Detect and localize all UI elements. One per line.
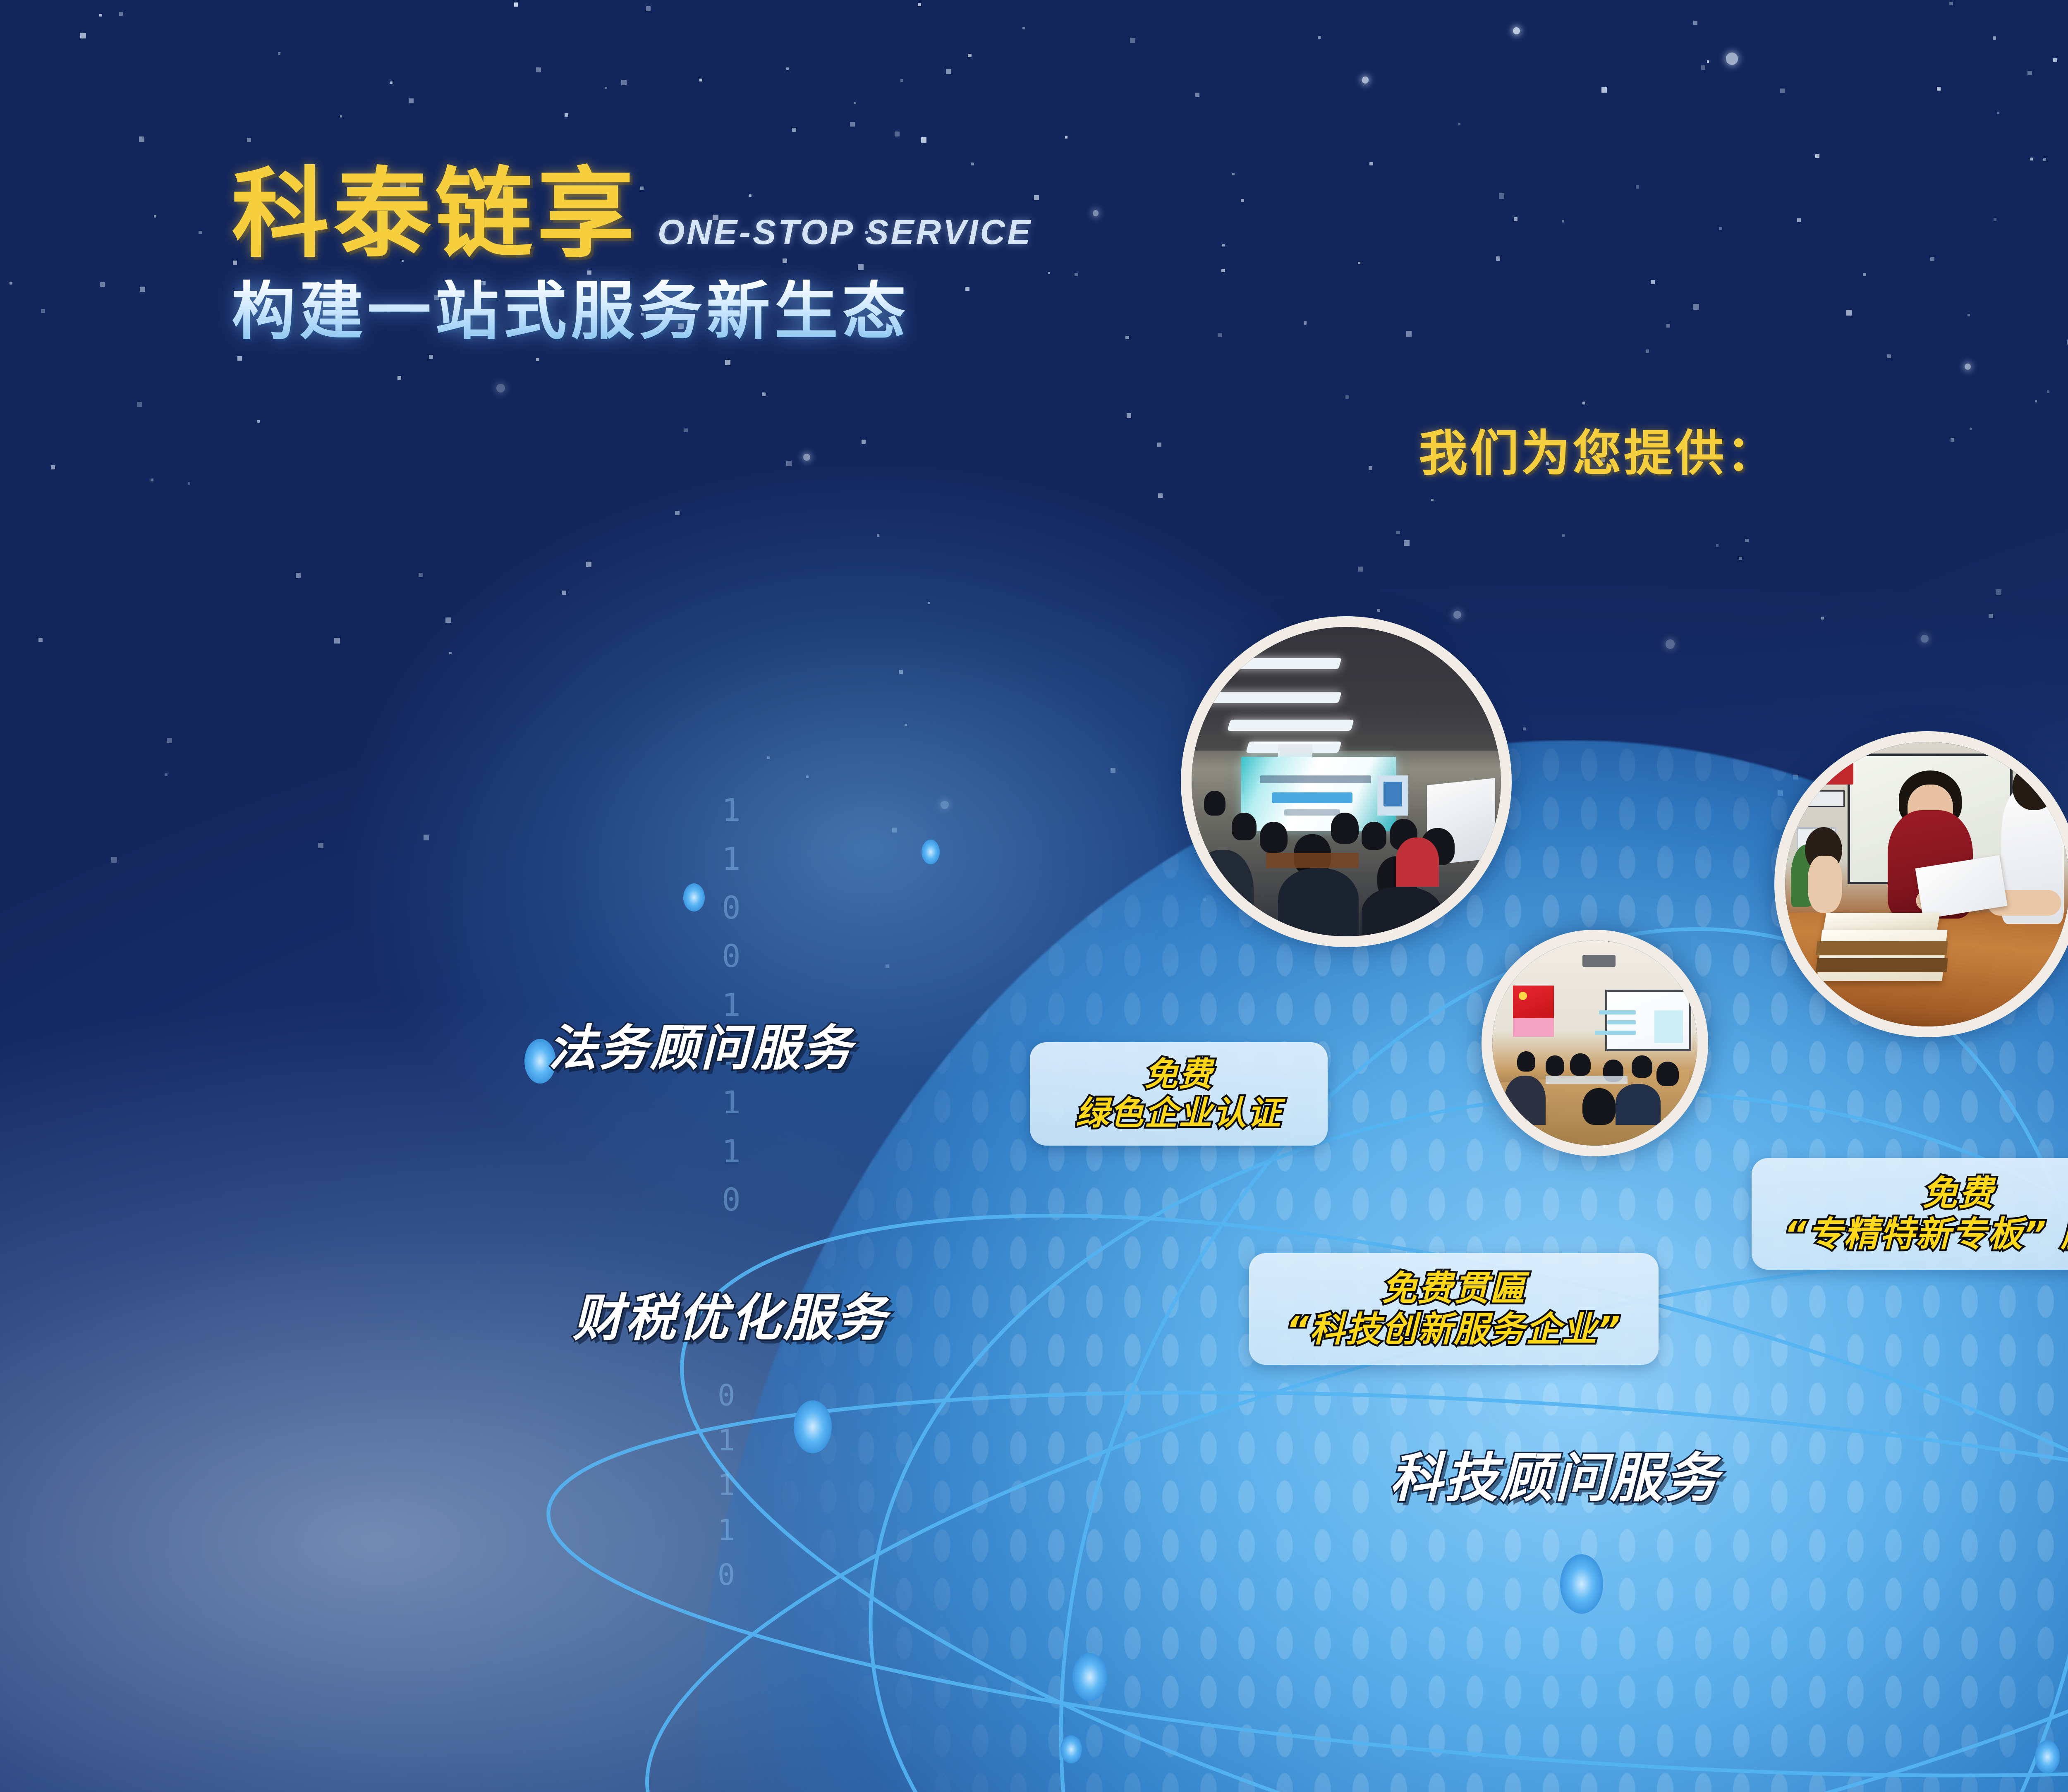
star (1797, 218, 1801, 222)
star (1362, 77, 1369, 83)
star (1499, 193, 1505, 199)
binary-column-left: 110011110 (722, 786, 742, 1224)
star (188, 482, 190, 485)
star (1396, 531, 1400, 534)
star (51, 465, 55, 469)
star (449, 652, 452, 654)
headline-subtitle: 构建一站式服务新生态 (232, 280, 1032, 343)
star (1666, 324, 1670, 328)
star (928, 602, 930, 604)
star (1949, 2, 1953, 5)
star (1345, 395, 1349, 399)
star (1651, 280, 1655, 284)
star (1369, 162, 1373, 165)
headline-block: 科泰链享 ONE-STOP SERVICE 构建一站式服务新生态 (232, 165, 1032, 343)
binary-digit: 0 (718, 1553, 736, 1598)
star (1989, 614, 1993, 618)
star (1358, 567, 1363, 572)
star (1994, 218, 1996, 221)
star (1065, 136, 1068, 138)
star (10, 282, 12, 284)
star (1513, 27, 1520, 34)
star (340, 115, 342, 117)
star (1022, 27, 1025, 29)
star (803, 454, 810, 460)
star (167, 738, 172, 743)
star (1997, 112, 1999, 114)
star (41, 309, 45, 313)
star (2035, 400, 2037, 402)
star (699, 79, 702, 81)
binary-digit: 1 (722, 835, 742, 883)
star (2027, 71, 2032, 75)
star (247, 138, 251, 142)
star (1358, 262, 1360, 264)
star (1707, 60, 1709, 63)
star (905, 724, 907, 726)
star (1846, 310, 1852, 316)
star (921, 137, 926, 143)
star (1458, 123, 1461, 125)
star (605, 87, 607, 89)
star (946, 69, 951, 74)
star (199, 231, 201, 234)
star (862, 440, 866, 444)
star (877, 534, 879, 537)
brand-title: 科泰链享 (232, 165, 639, 263)
star (1693, 304, 1699, 310)
badge-line-2: “科技创新服务企业” (1286, 1309, 1621, 1350)
star (1701, 65, 1706, 70)
star (278, 52, 281, 55)
star (1726, 53, 1738, 65)
star (100, 282, 105, 287)
star (445, 617, 451, 623)
photo-meeting-room (1482, 930, 1708, 1156)
star (1157, 443, 1161, 447)
star (1232, 173, 1235, 175)
star (1195, 93, 1199, 97)
star (1582, 402, 1585, 404)
star (792, 128, 796, 132)
star (762, 392, 766, 396)
star (257, 420, 260, 423)
service-label-tech: 科技顾问服务 (1390, 1435, 1720, 1512)
star (786, 461, 792, 466)
binary-digit: 0 (718, 1373, 736, 1418)
star (409, 98, 414, 103)
star (154, 215, 156, 218)
star (1158, 493, 1163, 498)
badge-line-2: “专精特新专板” 服务 (1784, 1214, 2068, 1255)
star (1863, 273, 1866, 276)
star (1646, 349, 1649, 353)
star (1369, 466, 1372, 470)
star (419, 573, 423, 577)
badge-line-1: 免费 (1922, 1173, 1994, 1214)
star (137, 402, 142, 407)
star (918, 3, 922, 7)
binary-digit: 1 (718, 1418, 736, 1463)
star (1719, 227, 1722, 230)
star (1562, 534, 1564, 536)
brand-subtitle-en: ONE-STOP SERVICE (658, 212, 1032, 263)
star (1406, 331, 1412, 337)
star (334, 638, 340, 644)
star (1666, 639, 1675, 649)
star (119, 12, 123, 16)
star (900, 79, 904, 82)
star (786, 67, 789, 70)
star (675, 511, 680, 515)
star (1222, 244, 1225, 246)
star (1130, 38, 1135, 43)
service-label-tax: 财税优化服务 (573, 1277, 888, 1350)
star (646, 6, 651, 11)
binary-digit: 1 (718, 1508, 736, 1553)
star (1431, 499, 1434, 501)
star (850, 122, 854, 127)
star (424, 835, 429, 840)
star (1523, 727, 1526, 730)
badge-tech-innovation: 免费贯匾 “科技创新服务企业” (1249, 1253, 1659, 1365)
star (684, 428, 687, 432)
star (621, 80, 626, 85)
star (390, 81, 393, 84)
star (1921, 635, 1929, 643)
star (1716, 544, 1719, 547)
binary-digit: 0 (722, 932, 742, 981)
service-label-legal: 法务顾问服务 (548, 1008, 853, 1079)
star (514, 2, 518, 6)
star (38, 638, 43, 642)
star (1377, 609, 1380, 612)
star (397, 376, 401, 380)
star (318, 843, 323, 848)
star (237, 356, 242, 361)
badge-line-2: 绿色企业认证 (1076, 1094, 1282, 1133)
star (429, 355, 433, 359)
star (1562, 220, 1564, 223)
star (2043, 158, 2046, 161)
star (296, 573, 301, 578)
star (1636, 185, 1639, 188)
star (1970, 428, 1972, 430)
binary-column-far-left: 01110 (718, 1373, 736, 1598)
star (1453, 611, 1461, 619)
star (151, 479, 153, 481)
star (165, 773, 167, 776)
badge-specialized-new-board: 免费 “专精特新专板” 服务 (1752, 1158, 2068, 1270)
badge-line-1: 免费贯匾 (1382, 1268, 1526, 1309)
star (1318, 36, 1321, 39)
star (1127, 413, 1131, 418)
star (1745, 539, 1748, 542)
star (139, 136, 144, 142)
star (1937, 87, 1941, 91)
star (1993, 36, 1996, 40)
star (854, 102, 856, 104)
star (2053, 58, 2057, 62)
star (1951, 438, 1954, 442)
star (2030, 158, 2033, 160)
star (1075, 273, 1078, 276)
star (1034, 195, 1039, 200)
star (1693, 21, 1697, 25)
star (1965, 364, 1971, 370)
star (1304, 321, 1307, 325)
badge-green-enterprise: 免费 绿色企业认证 (1030, 1042, 1328, 1146)
binary-digit: 0 (722, 883, 742, 932)
star (1967, 314, 1970, 317)
star (1221, 269, 1225, 272)
photo-seminar-hall (1181, 616, 1512, 947)
binary-digit: 1 (722, 1078, 742, 1127)
banner-root: 110011110 1100101101010 01110 0101 科泰链享 … (0, 0, 2068, 1792)
binary-digit: 1 (718, 1463, 736, 1508)
star (1404, 540, 1410, 546)
star (1048, 272, 1050, 274)
star (1930, 257, 1934, 261)
star (111, 857, 117, 863)
star (1218, 333, 1221, 337)
star (1739, 557, 1742, 560)
star (1601, 87, 1607, 93)
star (895, 132, 900, 136)
star (586, 562, 591, 567)
star (1996, 589, 2001, 595)
star (971, 163, 974, 165)
star (2047, 390, 2049, 393)
binary-digit: 1 (722, 786, 742, 835)
star (565, 113, 568, 117)
star (80, 33, 86, 38)
badge-line-1: 免费 (1144, 1055, 1213, 1094)
star (99, 14, 102, 17)
star (496, 384, 505, 392)
binary-digit: 0 (722, 1175, 742, 1224)
star (968, 54, 971, 57)
star (1821, 617, 1824, 620)
star (1514, 217, 1518, 221)
star (1815, 154, 1819, 158)
star (536, 358, 539, 361)
star (562, 591, 566, 595)
star (1093, 210, 1099, 216)
star (725, 360, 730, 365)
star (140, 287, 145, 292)
photo-office-consultation (1774, 731, 2068, 1037)
star (536, 67, 541, 72)
we-provide-label: 我们为您提供： (1419, 414, 1778, 484)
star (1887, 354, 1891, 358)
star (1241, 199, 1244, 202)
star (1125, 336, 1129, 340)
star (1496, 256, 1500, 261)
binary-digit: 1 (722, 1127, 742, 1176)
star (1780, 89, 1785, 93)
star (899, 670, 903, 674)
